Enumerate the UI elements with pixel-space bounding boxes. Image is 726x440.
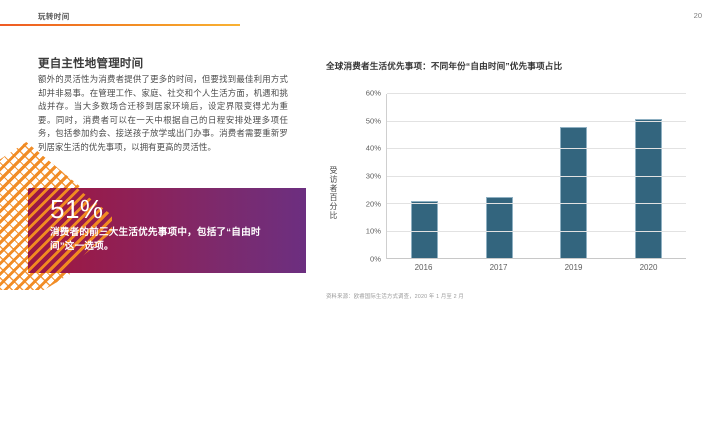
slide-page: 玩转时间 20 更自主性地管理时间 额外的灵活性为消费者提供了更多的时间，但要找… [0, 0, 726, 440]
stat-number: 51% [50, 196, 104, 222]
chart-bar-slot [387, 94, 462, 259]
chart-gridline: 50% [387, 121, 686, 122]
chart-bar[interactable] [486, 197, 513, 259]
chart-gridline: 30% [387, 176, 686, 177]
chart-y-tick: 50% [366, 116, 381, 125]
chart-block: 全球消费者生活优先事项：不同年份“自由时间”优先事项占比 受访者百分比 60%5… [326, 60, 698, 298]
header-accent-rule [0, 24, 240, 26]
article-paragraph: 额外的灵活性为消费者提供了更多的时间，但要找到最佳利用方式却并非易事。在管理工作… [38, 73, 288, 155]
chart-bar[interactable] [560, 127, 587, 259]
chart-area: 受访者百分比 60%50%40%30%20%10%0% 201620172019… [326, 80, 698, 298]
chart-gridline: 60% [387, 93, 686, 94]
chart-y-tick: 0% [370, 255, 381, 264]
chart-x-label: 2019 [536, 263, 611, 272]
chart-gridline: 10% [387, 231, 686, 232]
chart-gridline: 40% [387, 148, 686, 149]
chart-source-note: 资料来源：欧睿国际生活方式调查，2020 年 1 月至 2 月 [326, 292, 464, 300]
chart-bar-slot [537, 94, 612, 259]
stat-caption: 消费者的前三大生活优先事项中，包括了“自由时间”这一选项。 [50, 226, 282, 254]
chart-gridline: 20% [387, 203, 686, 204]
chart-x-label: 2016 [386, 263, 461, 272]
y-axis-label: 受访者百分比 [328, 166, 339, 220]
chart-x-label: 2020 [611, 263, 686, 272]
chart-gridline: 0% [387, 258, 686, 259]
page-number: 20 [694, 11, 702, 20]
chart-x-label: 2017 [461, 263, 536, 272]
page-title: 更自主性地管理时间 [38, 55, 288, 71]
chart-bar-slot [611, 94, 686, 259]
chart-plot-area: 60%50%40%30%20%10%0% [386, 94, 686, 259]
chart-bar[interactable] [635, 119, 662, 259]
stat-callout-box: 51% 消费者的前三大生活优先事项中，包括了“自由时间”这一选项。 [28, 188, 306, 273]
chart-bar-slot [462, 94, 537, 259]
chart-y-tick: 40% [366, 144, 381, 153]
chart-y-tick: 30% [366, 172, 381, 181]
article-text-block: 更自主性地管理时间 额外的灵活性为消费者提供了更多的时间，但要找到最佳利用方式却… [38, 55, 288, 155]
header-title: 玩转时间 [38, 11, 70, 22]
chart-bars [387, 94, 686, 259]
chart-y-tick: 10% [366, 227, 381, 236]
chart-x-axis-labels: 2016201720192020 [386, 263, 686, 272]
chart-y-tick: 60% [366, 89, 381, 98]
chart-title: 全球消费者生活优先事项：不同年份“自由时间”优先事项占比 [326, 60, 698, 72]
chart-y-tick: 20% [366, 199, 381, 208]
